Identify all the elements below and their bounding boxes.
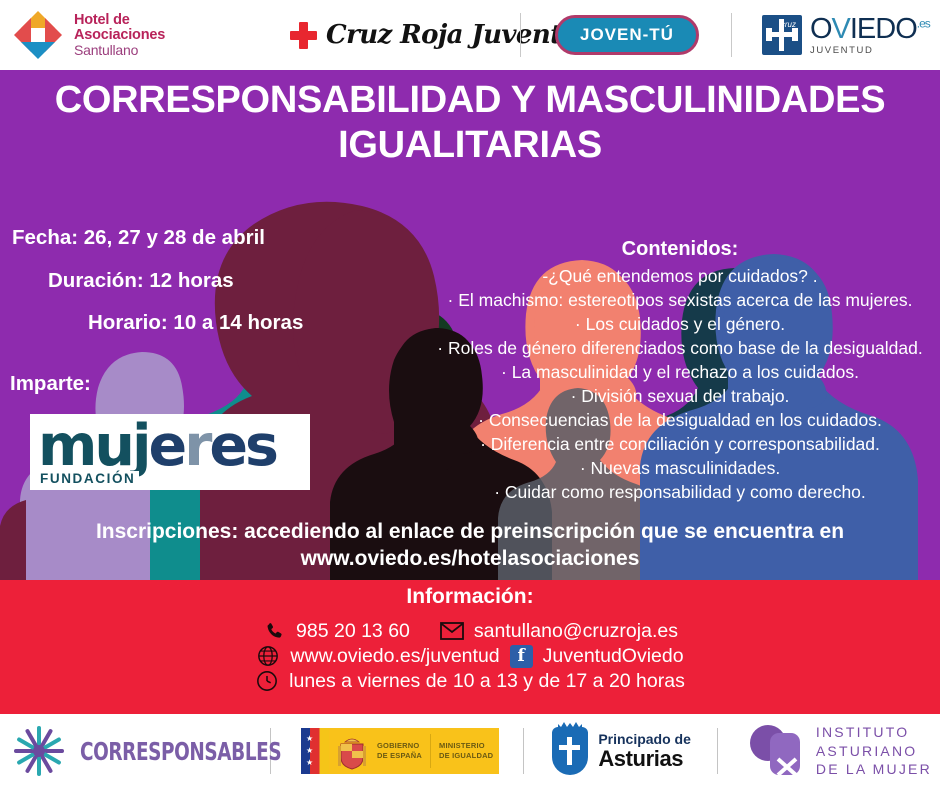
footer-divider-2	[523, 728, 524, 774]
ministerio-line2: DE IGUALDAD	[439, 751, 493, 761]
content-item: · Consecuencias de la desigualdad en los…	[420, 409, 940, 433]
principado-text: Principado de Asturias	[598, 732, 691, 770]
poster-root: Hotel de Asociaciones Santullano Cruz Ro…	[0, 0, 940, 788]
oviedo-shield-icon: cruz	[762, 15, 802, 55]
instituto-text: INSTITUTO ASTURIANO DE LA MUJER	[816, 723, 932, 778]
oviedo-wordmark: OVIEDO.es JUVENTUD	[810, 15, 930, 56]
instituto-line1: INSTITUTO	[816, 723, 932, 741]
spain-coat-of-arms-icon	[335, 732, 369, 770]
gobierno-yellow-panel: GOBIERNO DE ESPAÑA MINISTERIO DE IGUALDA…	[329, 728, 499, 774]
hotel-line1: Hotel de	[74, 13, 165, 28]
poster-title: CORRESPONSABILIDAD Y MASCULINIDADES IGUA…	[0, 78, 940, 168]
content-item: · La masculinidad y el rechazo a los cui…	[420, 361, 940, 385]
detail-horario: Horario: 10 a 14 horas	[0, 313, 400, 334]
phone-icon	[262, 619, 286, 643]
contact-row-hours: lunes a viernes de 10 a 13 y de 17 a 20 …	[0, 669, 940, 694]
header-logo-strip: Hotel de Asociaciones Santullano Cruz Ro…	[0, 0, 940, 70]
registration-url[interactable]: www.oviedo.es/hotelasociaciones	[0, 546, 940, 573]
contents-list: -¿Qué entendemos por cuidados? . · El ma…	[420, 265, 940, 505]
logo-oviedo-juventud: cruz OVIEDO.es JUVENTUD	[762, 0, 930, 70]
logo-instituto-asturiano-mujer: INSTITUTO ASTURIANO DE LA MUJER	[748, 723, 932, 779]
contents-title: Contenidos:	[420, 238, 940, 261]
venus-symbol-icon	[748, 723, 804, 779]
contents-block: Contenidos: -¿Qué entendemos por cuidado…	[420, 238, 940, 505]
logo-corresponsables: CORRESPONSABLES	[0, 722, 270, 780]
oviedo-suffix-es: .es	[917, 16, 930, 30]
contact-row-phone-email: 985 20 13 60 santullano@cruzroja.es	[0, 619, 940, 644]
snowflake-icon	[10, 722, 68, 780]
detail-fecha: Fecha: 26, 27 y 28 de abril	[0, 228, 400, 249]
information-band: Información: 985 20 13 60 santullano@cru…	[0, 580, 940, 714]
information-title: Información:	[0, 580, 940, 609]
footer-divider-3	[717, 728, 718, 774]
corresponsables-wordmark: CORRESPONSABLES	[80, 737, 281, 766]
content-item: · El machismo: estereotipos sexistas ace…	[420, 289, 940, 313]
content-item: · División sexual del trabajo.	[420, 385, 940, 409]
content-item: · Cuidar como responsabilidad y como der…	[420, 481, 940, 505]
title-line-1: CORRESPONSABILIDAD Y MASCULINIDADES	[0, 78, 940, 123]
content-item: · Los cuidados y el género.	[420, 313, 940, 337]
content-item: · Nuevas masculinidades.	[420, 457, 940, 481]
hotel-asociaciones-text: Hotel de Asociaciones Santullano	[74, 13, 165, 57]
contact-email[interactable]: santullano@cruzroja.es	[474, 619, 678, 644]
content-item: · Diferencia entre conciliación y corres…	[420, 433, 940, 457]
logo-cruz-roja-juventud: Cruz Roja Juventud	[290, 0, 520, 70]
detail-duracion: Duración: 12 horas	[0, 271, 400, 292]
header-divider-1	[520, 13, 521, 57]
logo-joven-tu: JOVEN-TÚ	[555, 0, 699, 70]
joven-tu-badge[interactable]: JOVEN-TÚ	[555, 15, 699, 55]
registration-block: Inscripciones: accediendo al enlace de p…	[0, 519, 940, 573]
logo-fundacion-mujeres: mujeres FUNDACIÓN	[30, 414, 310, 490]
clock-icon	[255, 669, 279, 693]
instituto-line2: ASTURIANO	[816, 742, 932, 760]
oviedo-word-row: OVIEDO.es	[810, 15, 930, 44]
footer-logo-strip: CORRESPONSABLES ★ ★ ★	[0, 714, 940, 788]
globe-icon	[256, 644, 280, 668]
red-cross-icon	[290, 22, 317, 49]
content-item: -¿Qué entendemos por cuidados? .	[420, 265, 940, 289]
spain-flag-icon: ★ ★ ★	[301, 728, 329, 774]
title-line-2: IGUALITARIAS	[0, 123, 940, 168]
hotel-line2: Asociaciones	[74, 28, 165, 43]
detail-imparte-label: Imparte:	[10, 372, 91, 396]
contact-phone: 985 20 13 60	[296, 619, 410, 644]
instituto-line3: DE LA MUJER	[816, 760, 932, 778]
gobierno-inner-divider	[430, 734, 431, 768]
contact-hours: lunes a viernes de 10 a 13 y de 17 a 20 …	[289, 669, 685, 694]
principado-line1: Principado de	[598, 732, 691, 747]
header-divider-2	[731, 13, 732, 57]
content-item: · Roles de género diferenciados como bas…	[420, 337, 940, 361]
facebook-icon[interactable]: f	[510, 645, 533, 668]
course-details: Fecha: 26, 27 y 28 de abril Duración: 12…	[0, 228, 400, 356]
contact-facebook[interactable]: JuventudOviedo	[543, 644, 684, 669]
logo-hotel-asociaciones: Hotel de Asociaciones Santullano	[0, 0, 262, 70]
oviedo-letter-o: O	[810, 13, 832, 45]
hotel-asociaciones-mark-icon	[12, 9, 64, 61]
fundacion-mujeres-wordmark: mujeres	[38, 418, 276, 475]
contact-website[interactable]: www.oviedo.es/juventud	[290, 644, 499, 669]
contact-row-web-facebook: www.oviedo.es/juventud f JuventudOviedo	[0, 644, 940, 669]
gobierno-line2: DE ESPAÑA	[377, 751, 422, 761]
fundacion-mujeres-sub: FUNDACIÓN	[40, 471, 139, 486]
oviedo-sub-juventud: JUVENTUD	[810, 46, 930, 56]
asturias-shield-icon	[552, 727, 588, 775]
email-icon	[440, 619, 464, 643]
ministerio-line1: MINISTERIO	[439, 741, 493, 751]
gobierno-text: GOBIERNO DE ESPAÑA	[377, 741, 422, 761]
registration-line-1: Inscripciones: accediendo al enlace de p…	[0, 519, 940, 546]
principado-line2: Asturias	[598, 747, 691, 770]
logo-principado-asturias: Principado de Asturias	[552, 727, 691, 775]
logo-gobierno-espana: ★ ★ ★ GOBIERNO DE ESPAÑ	[301, 728, 499, 774]
oviedo-letters-iedo: IEDO	[850, 13, 917, 45]
oviedo-letter-v: V	[832, 13, 850, 45]
ministerio-text: MINISTERIO DE IGUALDAD	[439, 741, 493, 761]
gobierno-line1: GOBIERNO	[377, 741, 422, 751]
hotel-line3: Santullano	[74, 43, 165, 57]
contact-details: 985 20 13 60 santullano@cruzroja.es	[0, 619, 940, 694]
